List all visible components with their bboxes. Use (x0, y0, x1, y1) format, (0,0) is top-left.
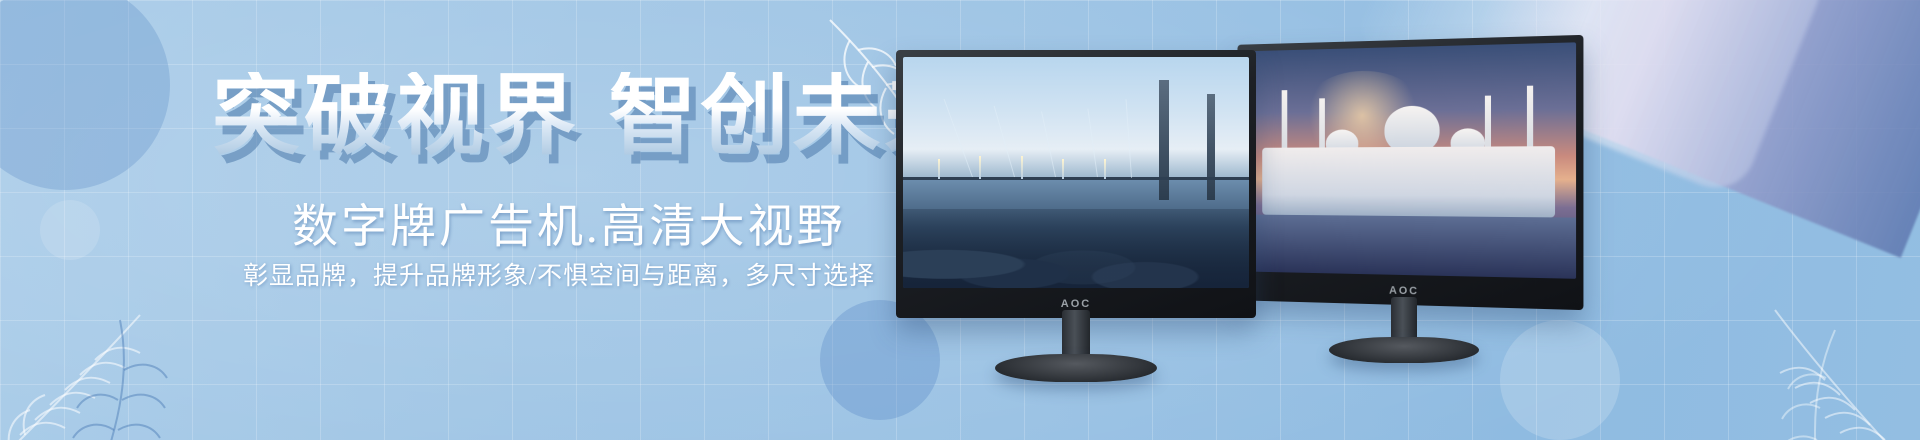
page-title: 突破视界 智创未来 (212, 72, 976, 160)
product-banner: 突破视界 智创未来 数字牌广告机.高清大视野 彰显品牌，提升品牌形象/不惧空间与… (0, 0, 1920, 440)
monitor-screen-mosque (1244, 42, 1576, 278)
subtitle: 数字牌广告机.高清大视野 (292, 190, 846, 256)
copy-block: 突破视界 智创未来 数字牌广告机.高清大视野 彰显品牌，提升品牌形象/不惧空间与… (0, 0, 930, 440)
tagline: 彰显品牌，提升品牌形象/不惧空间与距离，多尺寸选择 (243, 256, 875, 292)
monitor-primary: AOC (896, 50, 1256, 318)
monitor-screen-bridge (903, 57, 1249, 288)
soft-circle-right (1500, 320, 1620, 440)
monitor-bezel: AOC (1237, 35, 1583, 310)
monitor-secondary: AOC (1228, 40, 1580, 305)
monitor-bezel: AOC (896, 50, 1256, 318)
brand-logo-primary: AOC (896, 298, 1256, 310)
